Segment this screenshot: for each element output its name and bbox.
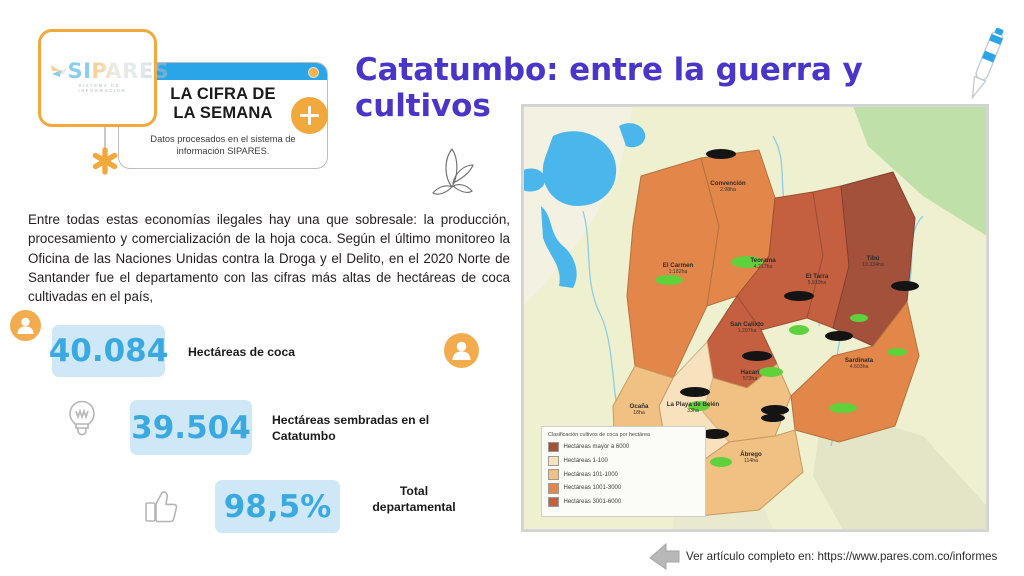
card-note: Datos procesados en el sistema de inform… <box>127 134 319 158</box>
stat-label-hectareas-catatumbo: Hectáreas sembradas en el Catatumbo <box>272 413 452 445</box>
map-legend: Clasificación cultivos de coca por hectá… <box>541 426 706 517</box>
lightbulb-icon <box>62 398 102 442</box>
legend-swatch <box>548 483 559 494</box>
card-title-line2: LA SEMANA <box>173 104 272 122</box>
legend-row: Hectáreas mayor a 6000 <box>548 442 699 453</box>
legend-label: Hectáreas 1-100 <box>564 458 608 464</box>
stat-value-total-departamental: 98,5% <box>215 480 340 533</box>
stat-value-hectareas-catatumbo: 39.504 <box>130 400 252 455</box>
stat-label-hectareas-coca: Hectáreas de coca <box>188 345 368 361</box>
map-label-el-carmen: El Carmen 1.182ha <box>643 263 713 276</box>
legend-label: Hectáreas mayor a 6000 <box>564 444 630 450</box>
card-title-line1: LA CIFRA DE <box>170 85 275 103</box>
map-label-tibu: Tibú 19.334ha <box>838 256 908 269</box>
infographic-canvas: SIPARES SISTEMA DE INFORMACION LA CIFRA … <box>0 0 1024 576</box>
legend-row: Hectáreas 1001-3000 <box>548 483 699 494</box>
legend-row: Hectáreas 101-1000 <box>548 469 699 480</box>
map-label-convencion: Convención 2.98ha <box>693 181 763 194</box>
map-label-sardinata: Sardinata 4.603ha <box>823 358 895 371</box>
legend-swatch <box>548 456 559 467</box>
sipares-logo: SIPARES SISTEMA DE INFORMACION <box>49 57 147 99</box>
legend-row: Hectáreas 3001-6000 <box>548 497 699 508</box>
asterisk-icon <box>90 146 120 176</box>
leaf-doodle-icon <box>432 143 476 199</box>
map-label-abrego: Ábrego 114ha <box>719 452 783 465</box>
plus-icon[interactable] <box>291 97 328 134</box>
hummingbird-icon <box>49 62 69 84</box>
sipares-logo-card: SIPARES SISTEMA DE INFORMACION <box>38 29 157 127</box>
footer-label: Ver artículo completo en: <box>686 550 814 563</box>
thumbs-up-icon <box>143 485 181 527</box>
person-avatar-icon-2 <box>444 333 479 368</box>
map-label-ocana: Ocaña 18ha <box>611 404 667 417</box>
legend-swatch <box>548 497 559 508</box>
stat-label-total-departamental: Total departamental <box>358 484 470 516</box>
sipares-logo-subtitle: SISTEMA DE INFORMACION <box>79 83 147 93</box>
legend-swatch <box>548 469 559 480</box>
legend-title: Clasificación cultivos de coca por hectá… <box>548 432 699 438</box>
body-paragraph: Entre todas estas economías ilegales hay… <box>28 210 510 306</box>
stat-value-hectareas-coca: 40.084 <box>52 325 165 377</box>
map-label-el-tarra: El Tarra 5.919ha <box>782 274 852 287</box>
status-dot-icon <box>308 67 319 78</box>
map-label-hacari: Hacarí 573ha <box>718 370 782 383</box>
person-avatar-icon <box>10 310 41 341</box>
pen-icon <box>962 22 1010 106</box>
sipares-logo-text: SIPARES <box>68 59 170 83</box>
footer-url[interactable]: https://www.pares.com.co/informes <box>817 550 997 563</box>
map-label-teorama: Teorama 4.217ha <box>728 258 798 271</box>
footer-link[interactable]: Ver artículo completo en: https://www.pa… <box>686 550 997 563</box>
legend-label: Hectáreas 1001-3000 <box>564 485 622 491</box>
coca-cultivation-map[interactable]: Convención 2.98ha El Carmen 1.182ha Teor… <box>521 104 989 532</box>
map-label-san-calixto: San Calixto 1.207ha <box>711 322 783 335</box>
legend-label: Hectáreas 101-1000 <box>564 472 618 478</box>
legend-label: Hectáreas 3001-6000 <box>564 499 622 505</box>
legend-row: Hectáreas 1-100 <box>548 456 699 467</box>
legend-swatch <box>548 442 559 453</box>
cursor-arrow-icon <box>648 542 682 570</box>
